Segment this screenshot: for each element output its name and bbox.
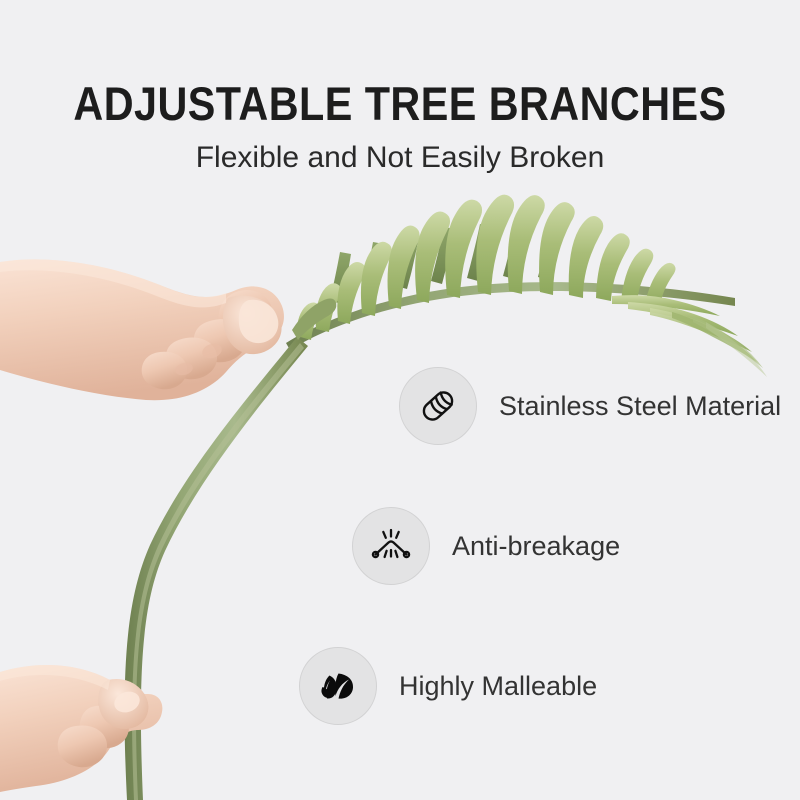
feature-list: Stainless Steel Material [0, 0, 800, 800]
bent-rod-impact-icon [352, 507, 430, 585]
feature-label: Anti-breakage [452, 531, 620, 562]
feature-item-highly-malleable: Highly Malleable [299, 647, 597, 725]
feature-label: Stainless Steel Material [499, 391, 781, 422]
product-feature-graphic: ADJUSTABLE TREE BRANCHES Flexible and No… [0, 0, 800, 800]
steel-rod-icon [399, 367, 477, 445]
feature-label: Highly Malleable [399, 671, 597, 702]
leaf-sprout-icon [299, 647, 377, 725]
feature-item-stainless-steel: Stainless Steel Material [399, 367, 781, 445]
feature-item-anti-breakage: Anti-breakage [352, 507, 620, 585]
